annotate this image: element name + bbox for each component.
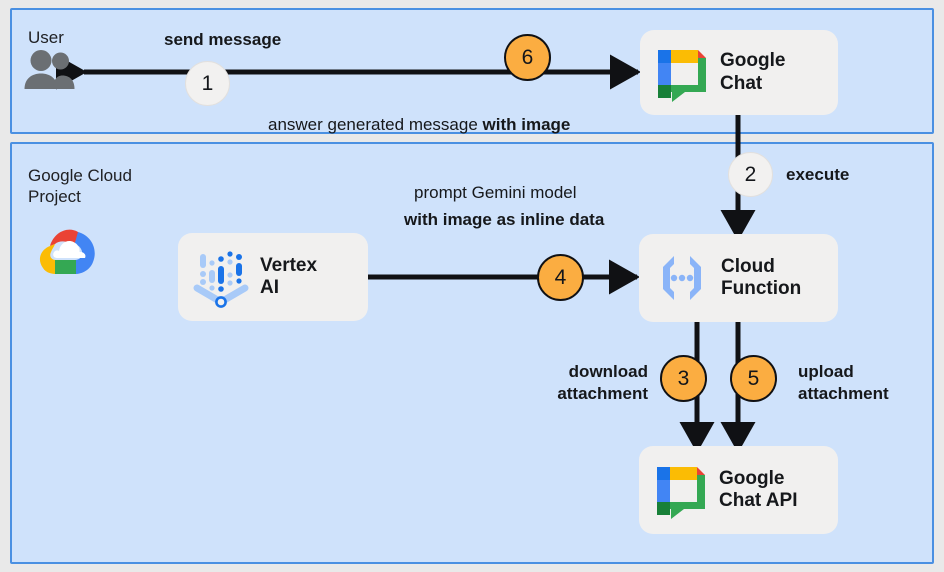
badge-step-2: 2	[728, 152, 773, 197]
cloud-function-icon	[653, 249, 711, 307]
node-google-chat-api[interactable]: Google Chat API	[639, 446, 838, 534]
badge-step-3: 3	[660, 355, 707, 402]
badge-step-1: 1	[185, 61, 230, 106]
badge-step-6: 6	[504, 34, 551, 81]
node-vertex-ai[interactable]: Vertex AI	[178, 233, 368, 321]
label-answer-generated-message: answer generated message with image	[268, 92, 570, 136]
google-cloud-node	[34, 224, 106, 287]
panel-gcp-title: Google Cloud Project	[28, 166, 132, 207]
vertex-ai-icon	[192, 246, 250, 308]
google-cloud-icon	[34, 224, 106, 282]
node-google-chat[interactable]: Google Chat	[640, 30, 838, 115]
node-cloud-function-label: Cloud Function	[721, 256, 801, 301]
label-upload-attachment: upload attachment	[798, 361, 889, 405]
label-answer-bold: with image	[483, 115, 571, 134]
users-icon	[22, 48, 78, 92]
badge-step-5: 5	[730, 355, 777, 402]
node-cloud-function[interactable]: Cloud Function	[639, 234, 838, 322]
node-google-chat-label: Google Chat	[720, 50, 785, 95]
label-answer-regular: answer generated message	[268, 115, 483, 134]
label-download-attachment: download attachment	[533, 361, 648, 405]
google-chat-icon	[654, 44, 710, 102]
user-node	[22, 48, 78, 97]
node-google-chat-api-label: Google Chat API	[719, 468, 797, 513]
label-send-message: send message	[164, 29, 281, 51]
badge-step-4: 4	[537, 254, 584, 301]
label-prompt-gemini-line2: with image as inline data	[404, 209, 604, 231]
panel-user-title: User	[28, 28, 64, 49]
diagram-canvas: User Google Cloud Project	[0, 0, 944, 572]
google-chat-icon	[653, 461, 709, 519]
label-prompt-gemini-line1: prompt Gemini model	[414, 182, 577, 204]
node-vertex-ai-label: Vertex AI	[260, 255, 317, 300]
label-execute: execute	[786, 164, 849, 186]
